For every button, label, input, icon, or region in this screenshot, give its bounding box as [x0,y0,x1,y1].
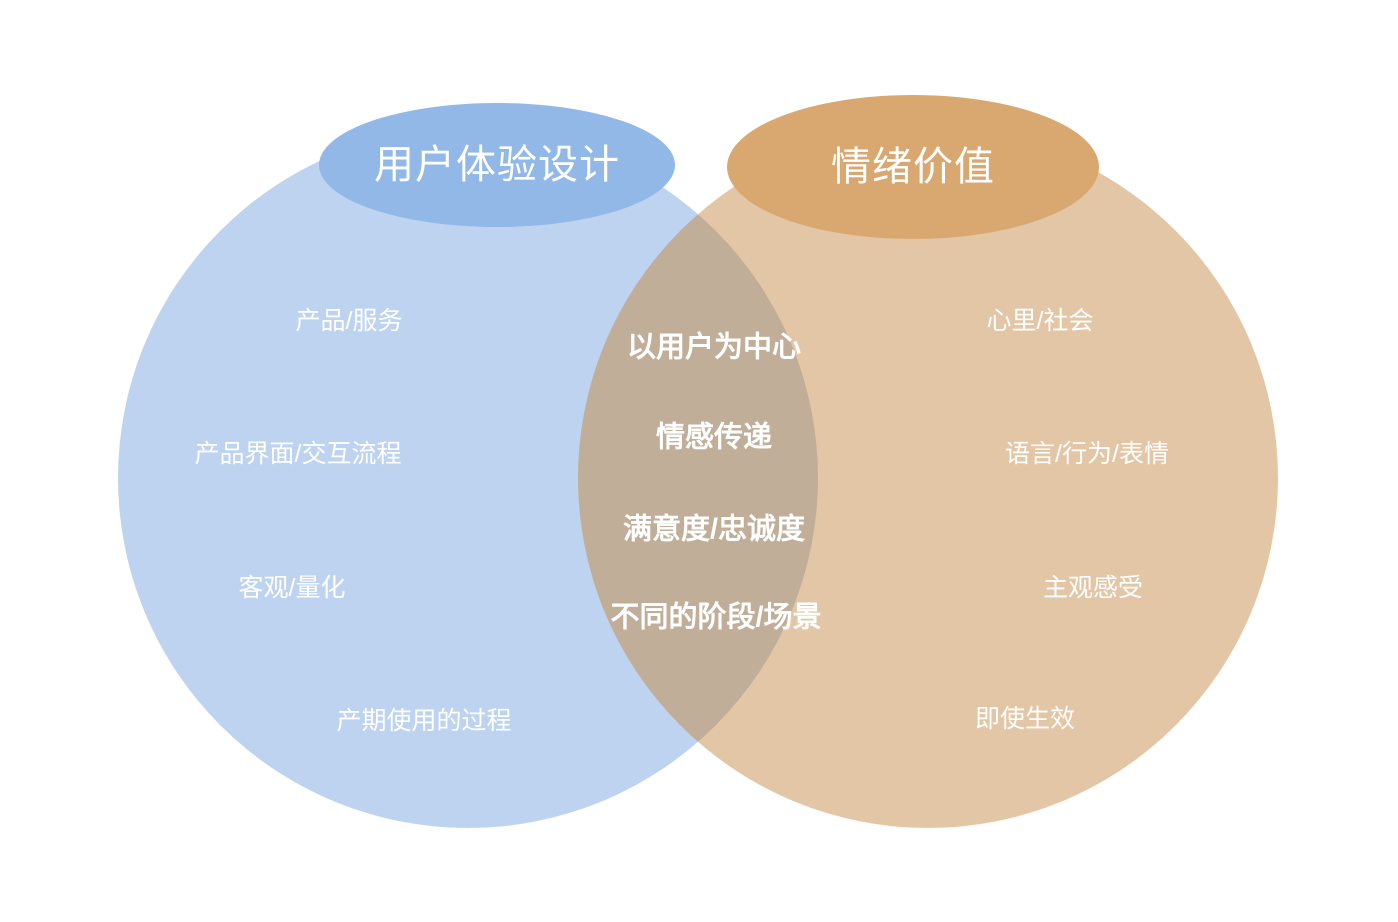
set-item-ux-design-3: 产期使用的过程 [336,706,511,736]
set-item-emotional-value-2: 主观感受 [1043,573,1143,603]
set-title-emotional-value: 情绪价值 [831,143,995,191]
intersection-item-2: 满意度/忠诚度 [623,513,805,548]
intersection-item-0: 以用户为中心 [627,331,801,366]
intersection-item-3: 不同的阶段/场景 [610,601,821,636]
set-title-ux-design: 用户体验设计 [374,141,620,189]
set-item-emotional-value-0: 心里/社会 [987,306,1094,336]
set-item-emotional-value-3: 即使生效 [975,704,1075,734]
set-item-ux-design-0: 产品/服务 [296,306,403,336]
intersection-item-1: 情感传递 [656,421,772,456]
set-item-ux-design-1: 产品界面/交互流程 [195,439,402,469]
venn-diagram: 用户体验设计 情绪价值 产品/服务 产品界面/交互流程 客观/量化 产期使用的过… [0,0,1398,922]
set-item-emotional-value-1: 语言/行为/表情 [1005,439,1169,469]
set-item-ux-design-2: 客观/量化 [239,573,346,603]
venn-label-layer: 用户体验设计 情绪价值 产品/服务 产品界面/交互流程 客观/量化 产期使用的过… [0,0,1398,922]
